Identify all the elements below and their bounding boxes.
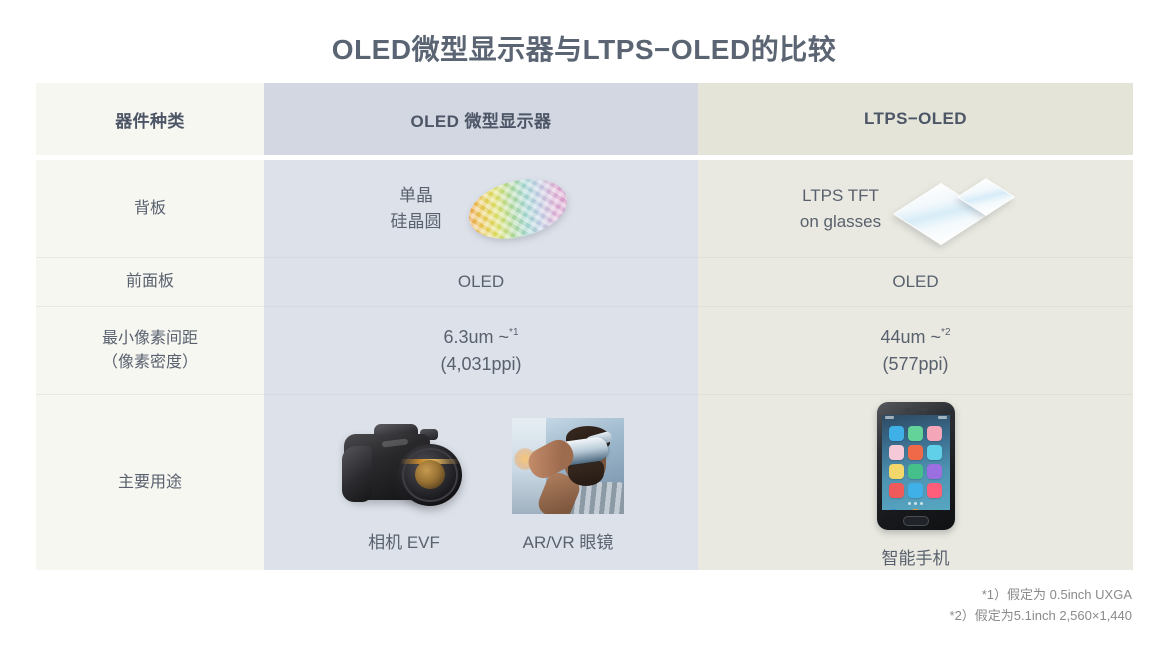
silicon-wafer-icon [468,177,572,241]
header-cell-category: 器件种类 [36,83,264,155]
header-cell-oled-microdisplay: OLED 微型显示器 [264,83,698,155]
vr-headset-photo [512,418,624,514]
pitch-micro-value: 6.3um ~ [444,327,510,347]
dock-app-icon[interactable] [908,509,923,510]
row-label-backplane-text: 背板 [134,197,166,220]
table-row: 背板 单晶 硅晶圆 LTPS TFT on glasses [36,160,1133,257]
row-label-pixel-pitch-line2: （像素密度） [102,351,198,374]
use-item-camera: 相机 EVF [338,418,470,553]
use-caption-arvr: AR/VR 眼镜 [523,528,614,553]
pitch-micro-footnote-ref: *1 [509,327,518,338]
use-caption-camera: 相机 EVF [368,528,440,553]
frontpanel-micro-value: OLED [458,269,504,295]
dock-app-icon[interactable] [930,509,945,510]
app-icon[interactable] [908,483,923,498]
cell-backplane-ltps: LTPS TFT on glasses [698,160,1133,257]
cell-backplane-microdisplay: 单晶 硅晶圆 [264,160,698,257]
app-icon[interactable] [927,445,942,460]
backplane-micro-line1: 单晶 [391,183,442,209]
use-caption-smartphone: 智能手机 [882,544,950,569]
app-icon[interactable] [889,426,904,441]
row-label-main-uses: 主要用途 [36,394,264,570]
row-label-pixel-pitch-line1: 最小像素间距 [102,327,198,350]
use-item-arvr: AR/VR 眼镜 [512,418,624,553]
cell-pitch-ltps: 44um ~*2 (577ppi) [698,306,1133,394]
footnote-2: *2）假定为5.1inch 2,560×1,440 [950,605,1132,626]
pitch-ltps-value-line: 44um ~*2 [881,324,951,351]
app-icon[interactable] [927,483,942,498]
footnote-1: *1）假定为 0.5inch UXGA [950,584,1132,605]
app-icon[interactable] [908,464,923,479]
footnotes: *1）假定为 0.5inch UXGA *2）假定为5.1inch 2,560×… [950,584,1132,627]
pitch-ltps-footnote-ref: *2 [941,327,950,338]
cell-frontpanel-microdisplay: OLED [264,257,698,306]
pitch-micro-value-line: 6.3um ~*1 [444,324,519,351]
cell-frontpanel-ltps: OLED [698,257,1133,306]
app-icon[interactable] [908,426,923,441]
header-label-oled-microdisplay: OLED 微型显示器 [411,107,552,132]
table-row: 主要用途 [36,394,1133,570]
slide-canvas: OLED微型显示器与LTPS−OLED的比较 器件种类 OLED 微型显示器 L… [0,0,1168,658]
row-label-main-uses-text: 主要用途 [118,471,182,494]
header-label-category: 器件种类 [115,107,185,132]
pitch-micro-ppi: (4,031ppi) [440,351,521,378]
header-cell-ltps-oled: LTPS−OLED [698,83,1133,155]
row-label-frontpanel: 前面板 [36,257,264,306]
page-title: OLED微型显示器与LTPS−OLED的比较 [0,28,1168,68]
cell-pitch-microdisplay: 6.3um ~*1 (4,031ppi) [264,306,698,394]
glass-panels-icon [907,170,1031,248]
app-icon[interactable] [927,464,942,479]
app-icon[interactable] [908,445,923,460]
frontpanel-ltps-value: OLED [892,269,938,295]
app-icon[interactable] [889,483,904,498]
row-label-backplane: 背板 [36,160,264,257]
app-icon[interactable] [889,445,904,460]
header-label-ltps-oled: LTPS−OLED [864,109,967,129]
table-row: 前面板 OLED OLED [36,257,1133,306]
comparison-table: 器件种类 OLED 微型显示器 LTPS−OLED 背板 单晶 硅晶圆 [36,83,1133,570]
table-header-row: 器件种类 OLED 微型显示器 LTPS−OLED [36,83,1133,155]
dock-app-icon[interactable] [886,509,901,510]
table-row: 最小像素间距 （像素密度） 6.3um ~*1 (4,031ppi) 44um … [36,306,1133,394]
backplane-ltps-line2: on glasses [800,209,881,235]
row-label-frontpanel-text: 前面板 [126,270,174,293]
row-label-pixel-pitch: 最小像素间距 （像素密度） [36,306,264,394]
pitch-ltps-ppi: (577ppi) [882,351,948,378]
app-icon[interactable] [889,464,904,479]
cell-uses-ltps: 智能手机 [698,394,1133,570]
cell-uses-microdisplay: 相机 EVF [264,394,698,570]
camera-icon [338,418,470,514]
app-icon[interactable] [927,426,942,441]
use-item-smartphone: 智能手机 [877,402,955,569]
backplane-ltps-line1: LTPS TFT [800,183,881,209]
backplane-micro-line2: 硅晶圆 [391,209,442,235]
smartphone-icon [877,402,955,530]
pitch-ltps-value: 44um ~ [881,327,942,347]
